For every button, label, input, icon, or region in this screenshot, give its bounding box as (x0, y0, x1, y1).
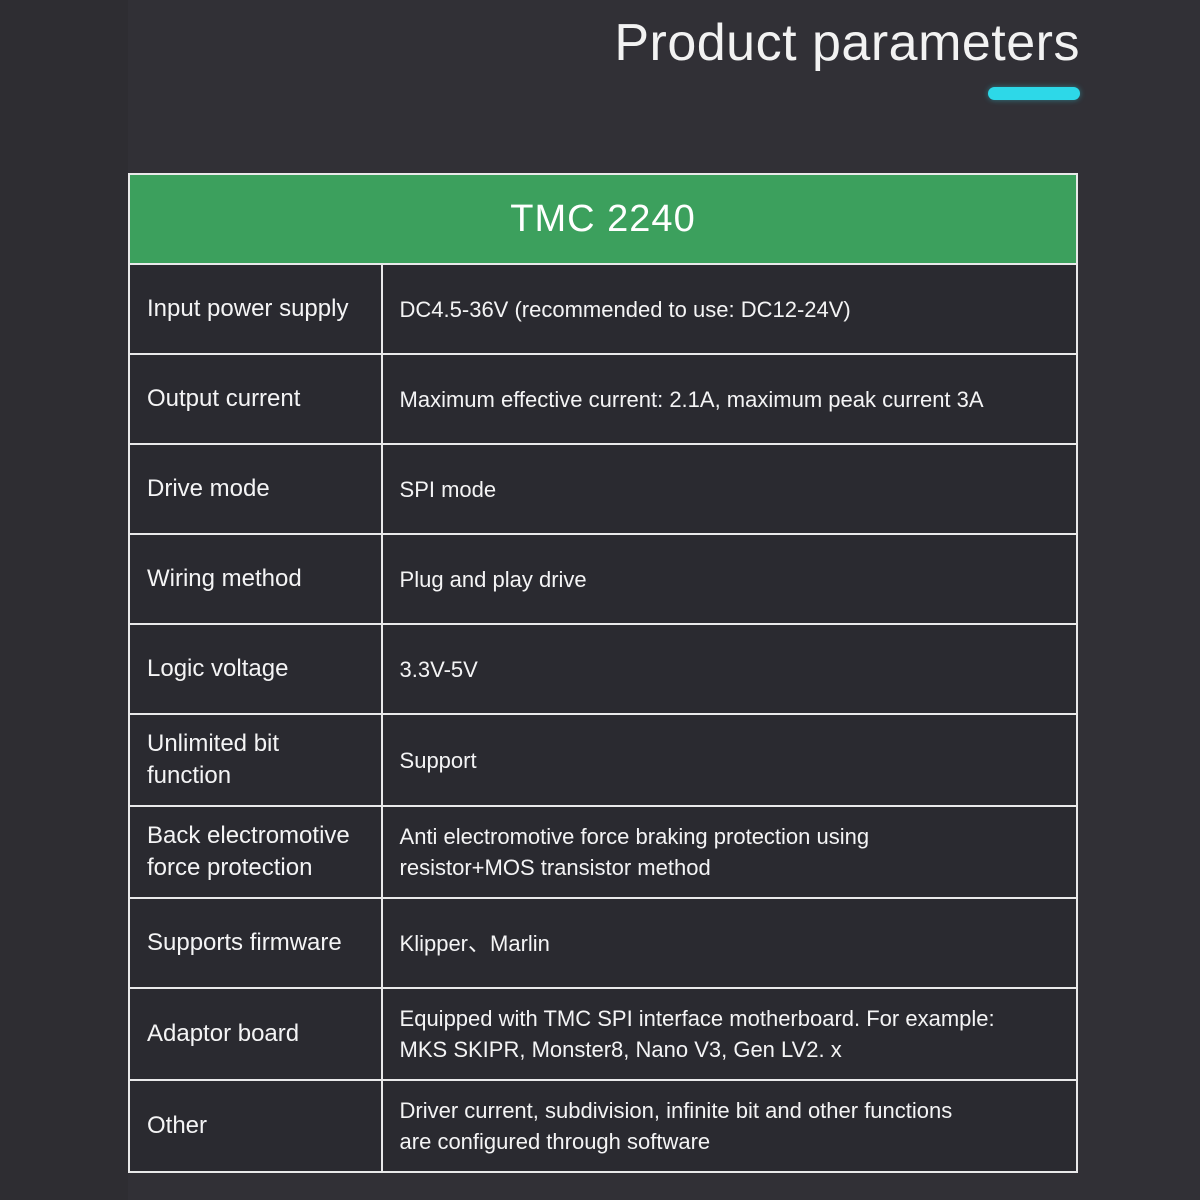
row-label: Other (129, 1080, 382, 1172)
row-label: Wiring method (129, 534, 382, 624)
row-value: DC4.5-36V (recommended to use: DC12-24V) (382, 264, 1077, 354)
table-row: Back electromotive force protection Anti… (129, 806, 1077, 898)
row-value: Driver current, subdivision, infinite bi… (382, 1080, 1077, 1172)
row-label: Adaptor board (129, 988, 382, 1080)
row-label: Logic voltage (129, 624, 382, 714)
row-label: Unlimited bit function (129, 714, 382, 806)
row-value: Anti electromotive force braking protect… (382, 806, 1077, 898)
table-row: Drive mode SPI mode (129, 444, 1077, 534)
table-row: Wiring method Plug and play drive (129, 534, 1077, 624)
row-value: 3.3V-5V (382, 624, 1077, 714)
page-title: Product parameters (0, 12, 1080, 74)
row-label: Drive mode (129, 444, 382, 534)
row-value: Maximum effective current: 2.1A, maximum… (382, 354, 1077, 444)
table-row: Input power supply DC4.5-36V (recommende… (129, 264, 1077, 354)
row-value: Plug and play drive (382, 534, 1077, 624)
row-value: Klipper、Marlin (382, 898, 1077, 988)
table-row: Adaptor board Equipped with TMC SPI inte… (129, 988, 1077, 1080)
table-row: Logic voltage 3.3V-5V (129, 624, 1077, 714)
product-name-header: TMC 2240 (129, 174, 1077, 264)
table-header-row: TMC 2240 (129, 174, 1077, 264)
product-parameters-table: TMC 2240 Input power supply DC4.5-36V (r… (128, 173, 1078, 1173)
row-value: Equipped with TMC SPI interface motherbo… (382, 988, 1077, 1080)
table-row: Output current Maximum effective current… (129, 354, 1077, 444)
table-row: Supports firmware Klipper、Marlin (129, 898, 1077, 988)
row-label: Output current (129, 354, 382, 444)
row-label: Supports firmware (129, 898, 382, 988)
row-value: Support (382, 714, 1077, 806)
table-row: Unlimited bit function Support (129, 714, 1077, 806)
table-row: Other Driver current, subdivision, infin… (129, 1080, 1077, 1172)
row-value: SPI mode (382, 444, 1077, 534)
page-stage: Product parameters TMC 2240 Input power … (0, 0, 1200, 1200)
row-label: Back electromotive force protection (129, 806, 382, 898)
row-label: Input power supply (129, 264, 382, 354)
table-body: Input power supply DC4.5-36V (recommende… (129, 264, 1077, 1172)
title-accent-bar (988, 87, 1080, 100)
